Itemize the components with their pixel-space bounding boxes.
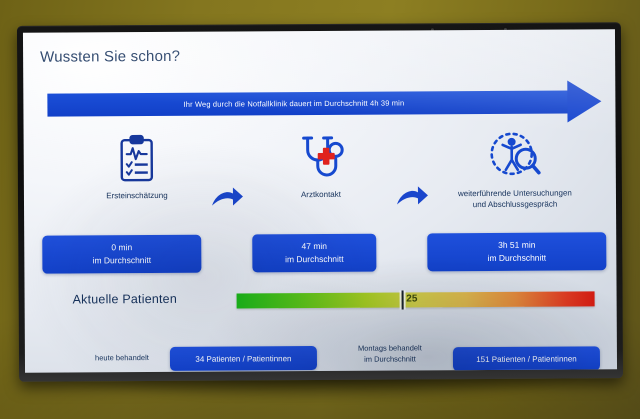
step-label-untersuchungen: weiterführende Untersuchungen und Abschl… bbox=[424, 188, 606, 211]
footer-value-montags: 151 Patienten / Patientinnen bbox=[453, 346, 600, 371]
step-ersteinschaetzung: Ersteinschätzung bbox=[62, 132, 212, 203]
value-ersteinschaetzung: 0 min bbox=[111, 241, 132, 254]
room-scene: Wussten Sie schon? Ihr Weg durch die Not… bbox=[0, 0, 640, 419]
curved-arrow-right-icon-2 bbox=[395, 184, 429, 215]
gauge-label: Aktuelle Patienten bbox=[73, 292, 177, 307]
footer-label-montags-line-1: Montags behandelt bbox=[358, 343, 422, 352]
value-box-untersuchungen: 3h 51 min im Durchschnitt bbox=[427, 232, 606, 271]
step-label-line-2: und Abschlussgespräch bbox=[473, 199, 558, 209]
gauge-marker bbox=[401, 290, 403, 309]
value-note-ersteinschaetzung: im Durchschnitt bbox=[93, 254, 152, 267]
footer-label-montags-line-2: im Durchschnitt bbox=[364, 355, 416, 364]
value-box-arztkontakt: 47 min im Durchschnitt bbox=[252, 234, 376, 273]
journey-banner: Ihr Weg durch die Notfallklinik dauert i… bbox=[47, 90, 568, 116]
gauge-value: 25 bbox=[406, 293, 417, 304]
display-bezel: Wussten Sie schon? Ihr Weg durch die Not… bbox=[17, 22, 623, 382]
page-title: Wussten Sie schon? bbox=[40, 48, 180, 66]
step-label-ersteinschaetzung: Ersteinschätzung bbox=[62, 191, 212, 203]
step-arztkontakt: Arztkontakt bbox=[246, 131, 396, 202]
value-untersuchungen: 3h 51 min bbox=[498, 239, 535, 252]
step-untersuchungen: weiterführende Untersuchungen und Abschl… bbox=[424, 129, 606, 211]
curved-arrow-right-icon-1 bbox=[210, 185, 244, 216]
screen-panel: Wussten Sie schon? Ihr Weg durch die Not… bbox=[23, 29, 617, 373]
stethoscope-icon bbox=[246, 131, 396, 184]
journey-banner-arrowhead bbox=[567, 80, 601, 122]
footer-row: heute behandelt 34 Patienten / Patientin… bbox=[25, 335, 617, 373]
footer-label-heute-line-1: heute behandelt bbox=[95, 353, 149, 362]
footer-value-heute: 34 Patienten / Patientinnen bbox=[170, 346, 317, 371]
patient-examination-icon bbox=[424, 129, 606, 182]
current-patients-gauge: 25 bbox=[237, 291, 595, 308]
value-arztkontakt: 47 min bbox=[301, 240, 327, 253]
value-box-ersteinschaetzung: 0 min im Durchschnitt bbox=[42, 235, 201, 274]
journey-banner-text: Ihr Weg durch die Notfallklinik dauert i… bbox=[183, 98, 404, 108]
step-label-line-1: weiterführende Untersuchungen bbox=[458, 188, 572, 198]
step-label-arztkontakt: Arztkontakt bbox=[246, 190, 396, 202]
footer-label-montags: Montags behandelt im Durchschnitt bbox=[331, 342, 449, 365]
clipboard-vitals-icon bbox=[62, 132, 212, 185]
value-note-arztkontakt: im Durchschnitt bbox=[285, 253, 344, 266]
value-note-untersuchungen: im Durchschnitt bbox=[488, 252, 547, 265]
footer-label-heute: heute behandelt bbox=[67, 352, 177, 364]
